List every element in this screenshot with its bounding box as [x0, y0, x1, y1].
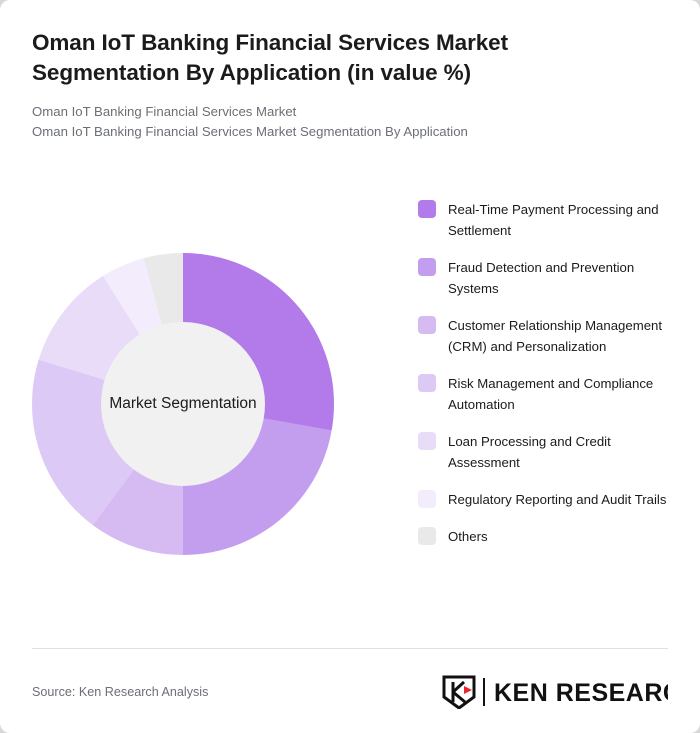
breadcrumb-line-2: Oman IoT Banking Financial Services Mark…	[32, 122, 652, 142]
source-text: Source: Ken Research Analysis	[32, 685, 208, 699]
donut-center-label: Market Segmentation	[109, 394, 256, 414]
chart-legend: Real-Time Payment Processing and Settlem…	[418, 199, 680, 547]
legend-item[interactable]: Regulatory Reporting and Audit Trails	[418, 489, 680, 510]
legend-item[interactable]: Real-Time Payment Processing and Settlem…	[418, 199, 680, 241]
chart-footer: Source: Ken Research Analysis KEN RESEAR…	[32, 672, 668, 712]
legend-swatch-icon	[418, 374, 436, 392]
legend-swatch-icon	[418, 258, 436, 276]
footer-divider	[32, 648, 668, 649]
legend-item-label: Regulatory Reporting and Audit Trails	[448, 489, 666, 510]
breadcrumb-line-1: Oman IoT Banking Financial Services Mark…	[32, 102, 652, 122]
legend-item-label: Real-Time Payment Processing and Settlem…	[448, 199, 680, 241]
chart-card: Oman IoT Banking Financial Services Mark…	[0, 0, 700, 733]
logo-wordmark: KEN RESEARCH	[494, 679, 668, 707]
breadcrumb: Oman IoT Banking Financial Services Mark…	[32, 102, 652, 142]
legend-item[interactable]: Loan Processing and Credit Assessment	[418, 431, 680, 473]
legend-item-label: Loan Processing and Credit Assessment	[448, 431, 680, 473]
legend-item-label: Fraud Detection and Prevention Systems	[448, 257, 680, 299]
legend-item-label: Others	[448, 526, 488, 547]
legend-swatch-icon	[418, 316, 436, 334]
legend-item-label: Customer Relationship Management (CRM) a…	[448, 315, 680, 357]
legend-swatch-icon	[418, 490, 436, 508]
legend-swatch-icon	[418, 200, 436, 218]
chart-area: Market Segmentation Real-Time Payment Pr…	[0, 185, 700, 605]
legend-item[interactable]: Risk Management and Compliance Automatio…	[418, 373, 680, 415]
legend-swatch-icon	[418, 527, 436, 545]
shield-k-icon	[444, 677, 474, 708]
ken-research-logo-svg: KEN RESEARCH	[440, 675, 668, 709]
chart-header: Oman IoT Banking Financial Services Mark…	[32, 28, 652, 142]
legend-item[interactable]: Others	[418, 526, 680, 547]
legend-item[interactable]: Fraud Detection and Prevention Systems	[418, 257, 680, 299]
donut-center: Market Segmentation	[101, 322, 265, 486]
donut-chart: Market Segmentation	[32, 253, 334, 555]
ken-research-logo: KEN RESEARCH	[440, 675, 668, 709]
legend-swatch-icon	[418, 432, 436, 450]
legend-item-label: Risk Management and Compliance Automatio…	[448, 373, 680, 415]
page-title: Oman IoT Banking Financial Services Mark…	[32, 28, 652, 88]
legend-item[interactable]: Customer Relationship Management (CRM) a…	[418, 315, 680, 357]
